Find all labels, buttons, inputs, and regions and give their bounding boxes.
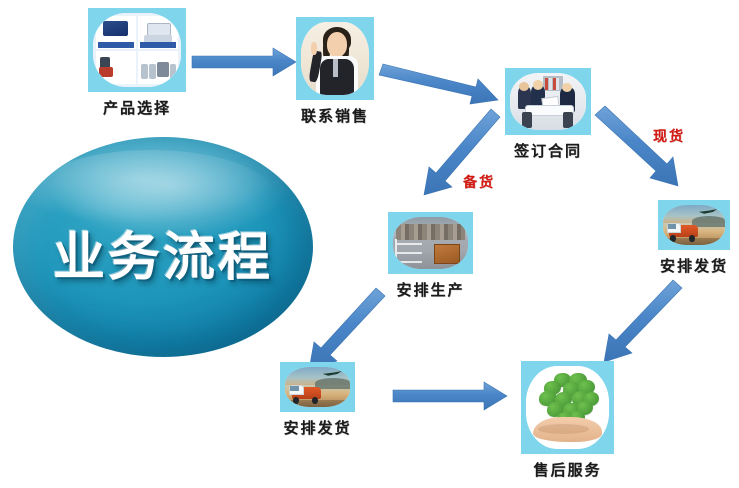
node-contact-sales[interactable]: 联系销售 — [296, 17, 374, 126]
branch-label-prepare: 备货 — [463, 172, 495, 192]
node-arrange-shipment-right[interactable]: 安排发货 — [658, 200, 730, 276]
heart-leaves-hand-art — [526, 366, 609, 449]
arrow-shipment-to-service — [393, 382, 507, 410]
factory-warehouse-art — [393, 217, 468, 269]
node-label-product-selection: 产品选择 — [88, 97, 186, 118]
product-collage-art — [93, 13, 181, 87]
node-label-arrange-production: 安排生产 — [388, 279, 473, 300]
node-arrange-production[interactable]: 安排生产 — [388, 212, 473, 300]
flowchart-canvas: 业务流程 产品选择 — [0, 0, 739, 488]
node-label-sign-contract: 签订合同 — [505, 140, 591, 161]
contact-sales-thumbnail — [296, 17, 374, 100]
node-label-after-sales-service: 售后服务 — [521, 459, 614, 480]
node-product-selection[interactable]: 产品选择 — [88, 8, 186, 118]
sales-agent-art — [301, 22, 369, 95]
arrow-contract-to-stock — [595, 106, 678, 186]
arrange-shipment-right-thumbnail — [658, 200, 730, 250]
sign-contract-thumbnail — [505, 68, 591, 135]
diagram-title: 业务流程 — [13, 215, 313, 290]
node-sign-contract[interactable]: 签订合同 — [505, 68, 591, 161]
arrow-sales-to-contract — [379, 64, 498, 104]
node-arrange-shipment-left[interactable]: 安排发货 — [280, 362, 355, 438]
node-label-contact-sales: 联系销售 — [296, 105, 374, 126]
arrow-product-to-sales — [192, 48, 296, 76]
node-label-arrange-shipment-right: 安排发货 — [658, 255, 730, 276]
truck-shipping-art — [285, 367, 350, 407]
contract-meeting-art — [510, 73, 586, 130]
arrange-shipment-left-thumbnail — [280, 362, 355, 412]
arrow-production-to-shipment — [309, 288, 385, 370]
node-label-arrange-shipment-left: 安排发货 — [280, 417, 355, 438]
node-after-sales-service[interactable]: 售后服务 — [521, 361, 614, 480]
truck-shipping-art — [663, 205, 725, 245]
after-sales-service-thumbnail — [521, 361, 614, 454]
product-selection-thumbnail — [88, 8, 186, 92]
arrow-stock-to-service — [604, 280, 682, 362]
branch-label-stock: 现货 — [653, 126, 685, 146]
arrange-production-thumbnail — [388, 212, 473, 274]
